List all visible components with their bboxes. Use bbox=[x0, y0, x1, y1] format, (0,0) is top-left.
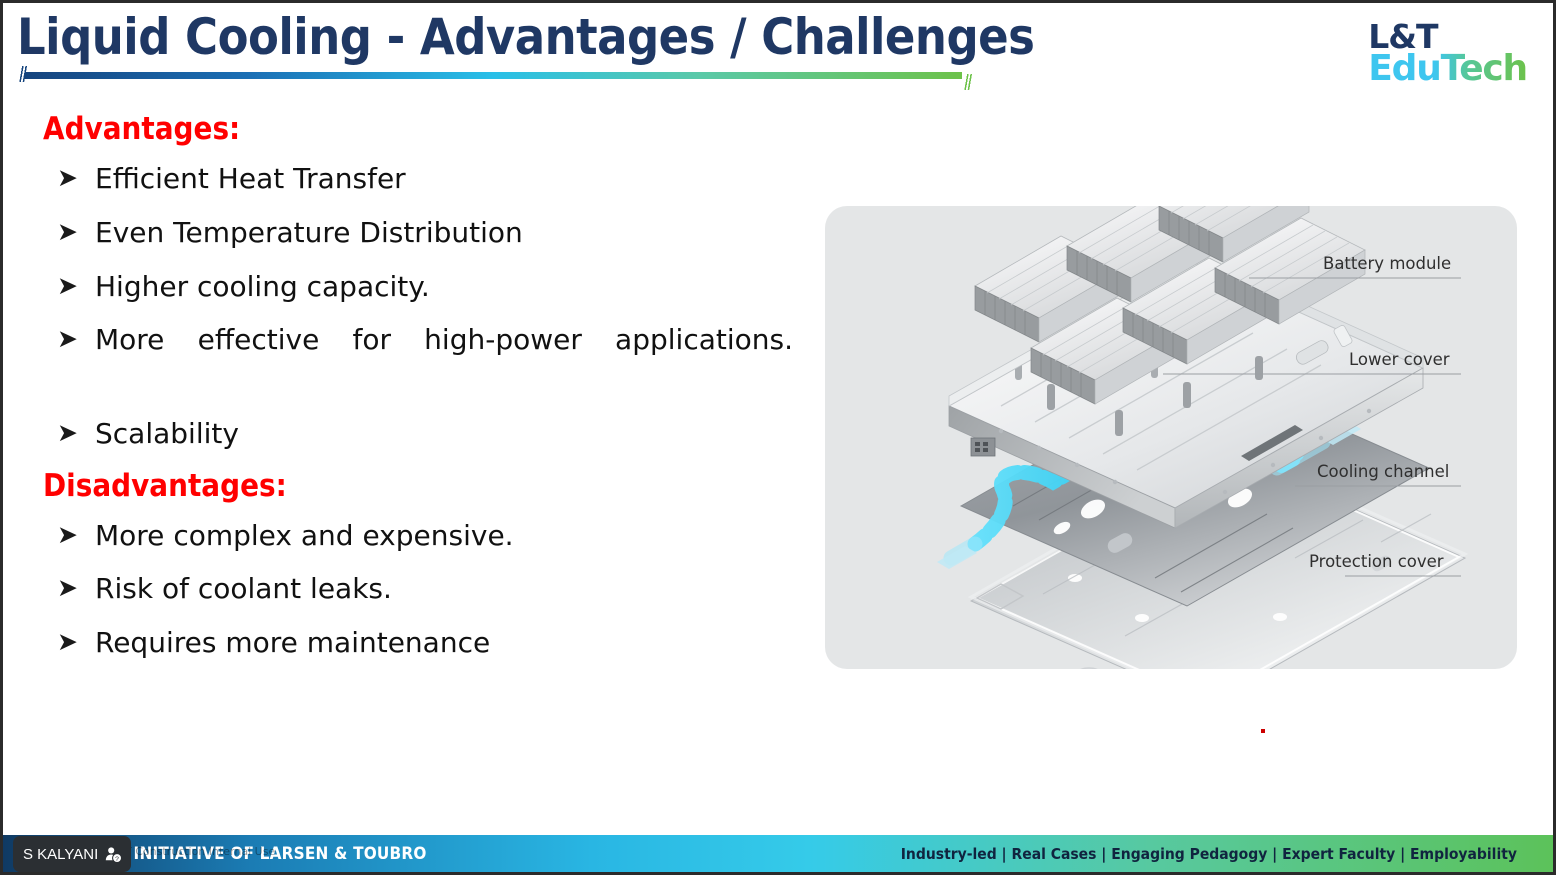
arrow-bullet-icon: ➤ bbox=[57, 624, 78, 659]
arrow-bullet-icon: ➤ bbox=[57, 570, 78, 605]
advantages-heading: Advantages: bbox=[43, 111, 803, 147]
list-item-text: Higher cooling capacity. bbox=[95, 270, 430, 303]
battery-pack-exploded-diagram: Battery module Lower cover Cooling chann… bbox=[825, 206, 1517, 669]
disadvantages-heading: Disadvantages: bbox=[43, 468, 803, 504]
footer-bar: AN INITIATIVE OF LARSEN & TOUBRO Industr… bbox=[3, 835, 1553, 872]
list-item: ➤ Efficient Heat Transfer bbox=[43, 159, 803, 199]
logo-edutech-text: EduTech bbox=[1368, 52, 1527, 86]
advantages-list: ➤ Efficient Heat Transfer ➤ Even Tempera… bbox=[43, 159, 803, 454]
list-item-text: Risk of coolant leaks. bbox=[95, 572, 392, 605]
arrow-bullet-icon: ➤ bbox=[57, 268, 78, 303]
list-item-text: More complex and expensive. bbox=[95, 519, 514, 552]
gradient-rule bbox=[25, 72, 962, 79]
person-badge-icon: ? bbox=[104, 845, 122, 863]
presentation-slide: Liquid Cooling - Advantages / Challenges… bbox=[0, 0, 1556, 875]
presenter-name-pill: S KALYANI ? bbox=[13, 836, 131, 872]
list-item-text: Scalability bbox=[95, 417, 239, 450]
disadvantages-list: ➤ More complex and expensive. ➤ Risk of … bbox=[43, 516, 803, 663]
stray-marker-dot bbox=[1261, 729, 1265, 733]
list-item: ➤ Risk of coolant leaks. bbox=[43, 569, 803, 609]
arrow-bullet-icon: ➤ bbox=[57, 160, 78, 195]
arrow-bullet-icon: ➤ bbox=[57, 321, 78, 356]
list-item-text: More effective for high-power applicatio… bbox=[95, 320, 793, 400]
list-item: ➤ Scalability bbox=[43, 414, 803, 454]
connector-block bbox=[971, 438, 995, 456]
title-block: Liquid Cooling - Advantages / Challenges bbox=[17, 11, 1017, 84]
label-protection-cover: Protection cover bbox=[1309, 552, 1444, 571]
list-item-text: Efficient Heat Transfer bbox=[95, 162, 406, 195]
arrow-bullet-icon: ➤ bbox=[57, 517, 78, 552]
list-item: ➤ Higher cooling capacity. bbox=[43, 267, 803, 307]
list-item: ➤ Even Temperature Distribution bbox=[43, 213, 803, 253]
page-title: Liquid Cooling - Advantages / Challenges bbox=[17, 11, 1017, 64]
label-cooling-channel: Cooling channel bbox=[1317, 462, 1449, 481]
label-lower-cover: Lower cover bbox=[1349, 350, 1450, 369]
svg-text:?: ? bbox=[115, 856, 119, 863]
list-item-text: Even Temperature Distribution bbox=[95, 216, 523, 249]
lnt-edutech-logo: L&T EduTech bbox=[1368, 21, 1527, 87]
title-underline bbox=[17, 66, 972, 84]
label-battery-module: Battery module bbox=[1323, 254, 1451, 273]
footer-tagline: Industry-led | Real Cases | Engaging Ped… bbox=[901, 845, 1517, 863]
list-item-text: Requires more maintenance bbox=[95, 626, 490, 659]
list-item: ➤ Requires more maintenance bbox=[43, 623, 803, 663]
list-item: ➤ More effective for high-power applicat… bbox=[43, 320, 803, 400]
content-column: Advantages: ➤ Efficient Heat Transfer ➤ … bbox=[43, 111, 803, 677]
list-item: ➤ More complex and expensive. bbox=[43, 516, 803, 556]
arrow-bullet-icon: ➤ bbox=[57, 214, 78, 249]
presenter-name: S KALYANI bbox=[23, 846, 98, 863]
footer-initiative-text: AN INITIATIVE OF LARSEN & TOUBRO bbox=[103, 844, 427, 864]
arrow-bullet-icon: ➤ bbox=[57, 415, 78, 450]
quote-tick-right-icon bbox=[962, 74, 972, 90]
